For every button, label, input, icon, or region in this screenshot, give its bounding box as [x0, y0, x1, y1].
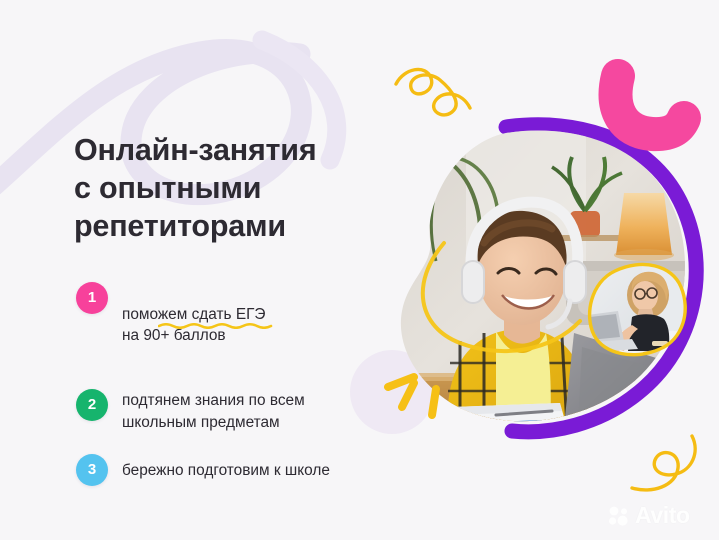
- page-title: Онлайн-занятия с опытными репетиторами: [74, 131, 374, 245]
- avito-brand-label: Avito: [635, 502, 690, 529]
- benefit-number-badge: 1: [76, 282, 108, 314]
- benefit-label: бережно подготовим к школе: [122, 454, 330, 482]
- benefit-label: подтянем знания по всем школьным предмет…: [122, 389, 305, 433]
- lamp: [614, 193, 674, 261]
- list-item: 1 поможем сдать ЕГЭ на 90+ баллов: [76, 282, 396, 368]
- list-item: 3 бережно подготовим к школе: [76, 454, 396, 488]
- photo-composition: [356, 115, 719, 445]
- list-item: 2 подтянем знания по всем школьным предм…: [76, 389, 396, 433]
- benefit-number-badge: 2: [76, 389, 108, 421]
- benefits-list: 1 поможем сдать ЕГЭ на 90+ баллов 2 подт…: [76, 282, 396, 488]
- benefit-label: поможем сдать ЕГЭ на 90+ баллов: [122, 282, 265, 368]
- yellow-squiggle-top: [396, 69, 470, 114]
- wavy-underline-icon: [158, 322, 276, 329]
- avito-logo-icon: [608, 506, 630, 526]
- benefit-number-badge: 3: [76, 454, 108, 486]
- advertisement-banner: Онлайн-занятия с опытными репетиторами 1…: [0, 0, 719, 540]
- avito-watermark: Avito: [608, 502, 690, 529]
